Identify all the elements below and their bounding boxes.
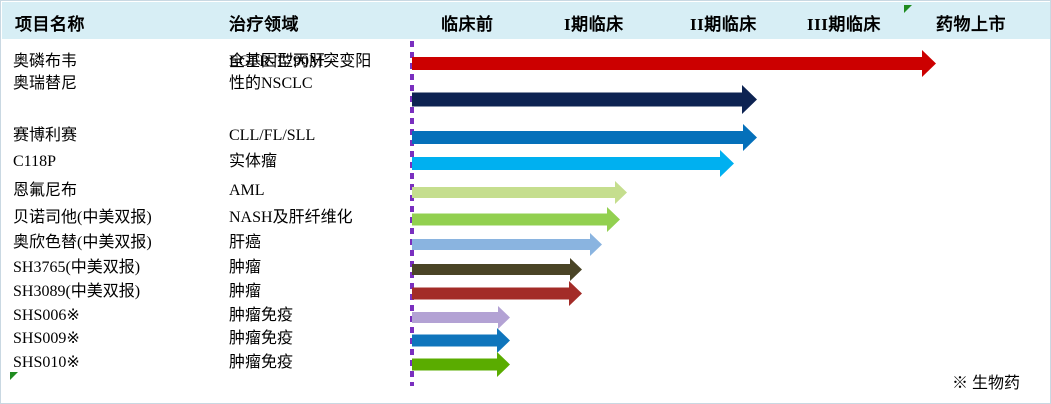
phase-progress-arrow xyxy=(412,232,604,257)
project-name: SH3089(中美双报) xyxy=(13,281,228,303)
project-name: 奥磷布韦 xyxy=(13,51,228,73)
therapeutic-area: EGFR-T790M突变阳 性的NSCLC xyxy=(229,51,409,95)
phase-progress-arrow xyxy=(412,206,622,233)
column-header-area: 治疗领域 xyxy=(229,10,299,35)
therapeutic-area: 肝癌 xyxy=(229,232,409,254)
project-name: 奥欣色替(中美双报) xyxy=(13,232,228,254)
therapeutic-area: 肿瘤 xyxy=(229,257,409,279)
therapeutic-area: CLL/FL/SLL xyxy=(229,125,409,147)
phase-progress-arrow xyxy=(412,49,938,78)
project-name: SHS006※ xyxy=(13,305,228,327)
footnote-biologics: ※ 生物药 xyxy=(952,369,1020,393)
column-header-phase1: I期临床 xyxy=(564,10,624,35)
column-header-name: 项目名称 xyxy=(15,10,85,35)
project-name: 奥瑞替尼 xyxy=(13,73,228,95)
project-name: 赛博利赛 xyxy=(13,125,228,147)
green-triangle-marker-top-icon xyxy=(904,5,912,13)
phase-progress-arrow xyxy=(412,123,759,152)
column-header-phase3: III期临床 xyxy=(807,10,881,35)
phase-progress-arrow xyxy=(412,84,759,115)
project-name: SH3765(中美双报) xyxy=(13,257,228,279)
project-name: C118P xyxy=(13,151,228,173)
therapeutic-area: 肿瘤免疫 xyxy=(229,352,409,374)
pipeline-chart: 项目名称 治疗领域 临床前 I期临床 II期临床 III期临床 药物上市 奥磷布… xyxy=(0,0,1051,404)
project-name: SHS010※ xyxy=(13,352,228,374)
therapeutic-area: 实体瘤 xyxy=(229,151,409,173)
phase-progress-arrow xyxy=(412,327,512,354)
therapeutic-area: 肿瘤 xyxy=(229,281,409,303)
column-header-market: 药物上市 xyxy=(936,10,1006,35)
phase-progress-arrow xyxy=(412,351,512,378)
column-header-phase2: II期临床 xyxy=(690,10,757,35)
pipeline-rows: 奥磷布韦全基因型丙肝奥瑞替尼EGFR-T790M突变阳 性的NSCLC赛博利赛C… xyxy=(1,39,1051,404)
phase-progress-arrow xyxy=(412,280,584,307)
project-name: SHS009※ xyxy=(13,328,228,350)
therapeutic-area: 肿瘤免疫 xyxy=(229,328,409,350)
phase-progress-arrow xyxy=(412,149,736,178)
project-name: 恩氟尼布 xyxy=(13,180,228,202)
therapeutic-area: AML xyxy=(229,180,409,202)
column-header-preclinical: 临床前 xyxy=(441,10,494,35)
therapeutic-area: 肿瘤免疫 xyxy=(229,305,409,327)
table-header xyxy=(2,2,1051,39)
project-name: 贝诺司他(中美双报) xyxy=(13,207,228,229)
therapeutic-area: NASH及肝纤维化 xyxy=(229,207,409,229)
phase-progress-arrow xyxy=(412,180,629,205)
phase-progress-arrow xyxy=(412,257,584,282)
